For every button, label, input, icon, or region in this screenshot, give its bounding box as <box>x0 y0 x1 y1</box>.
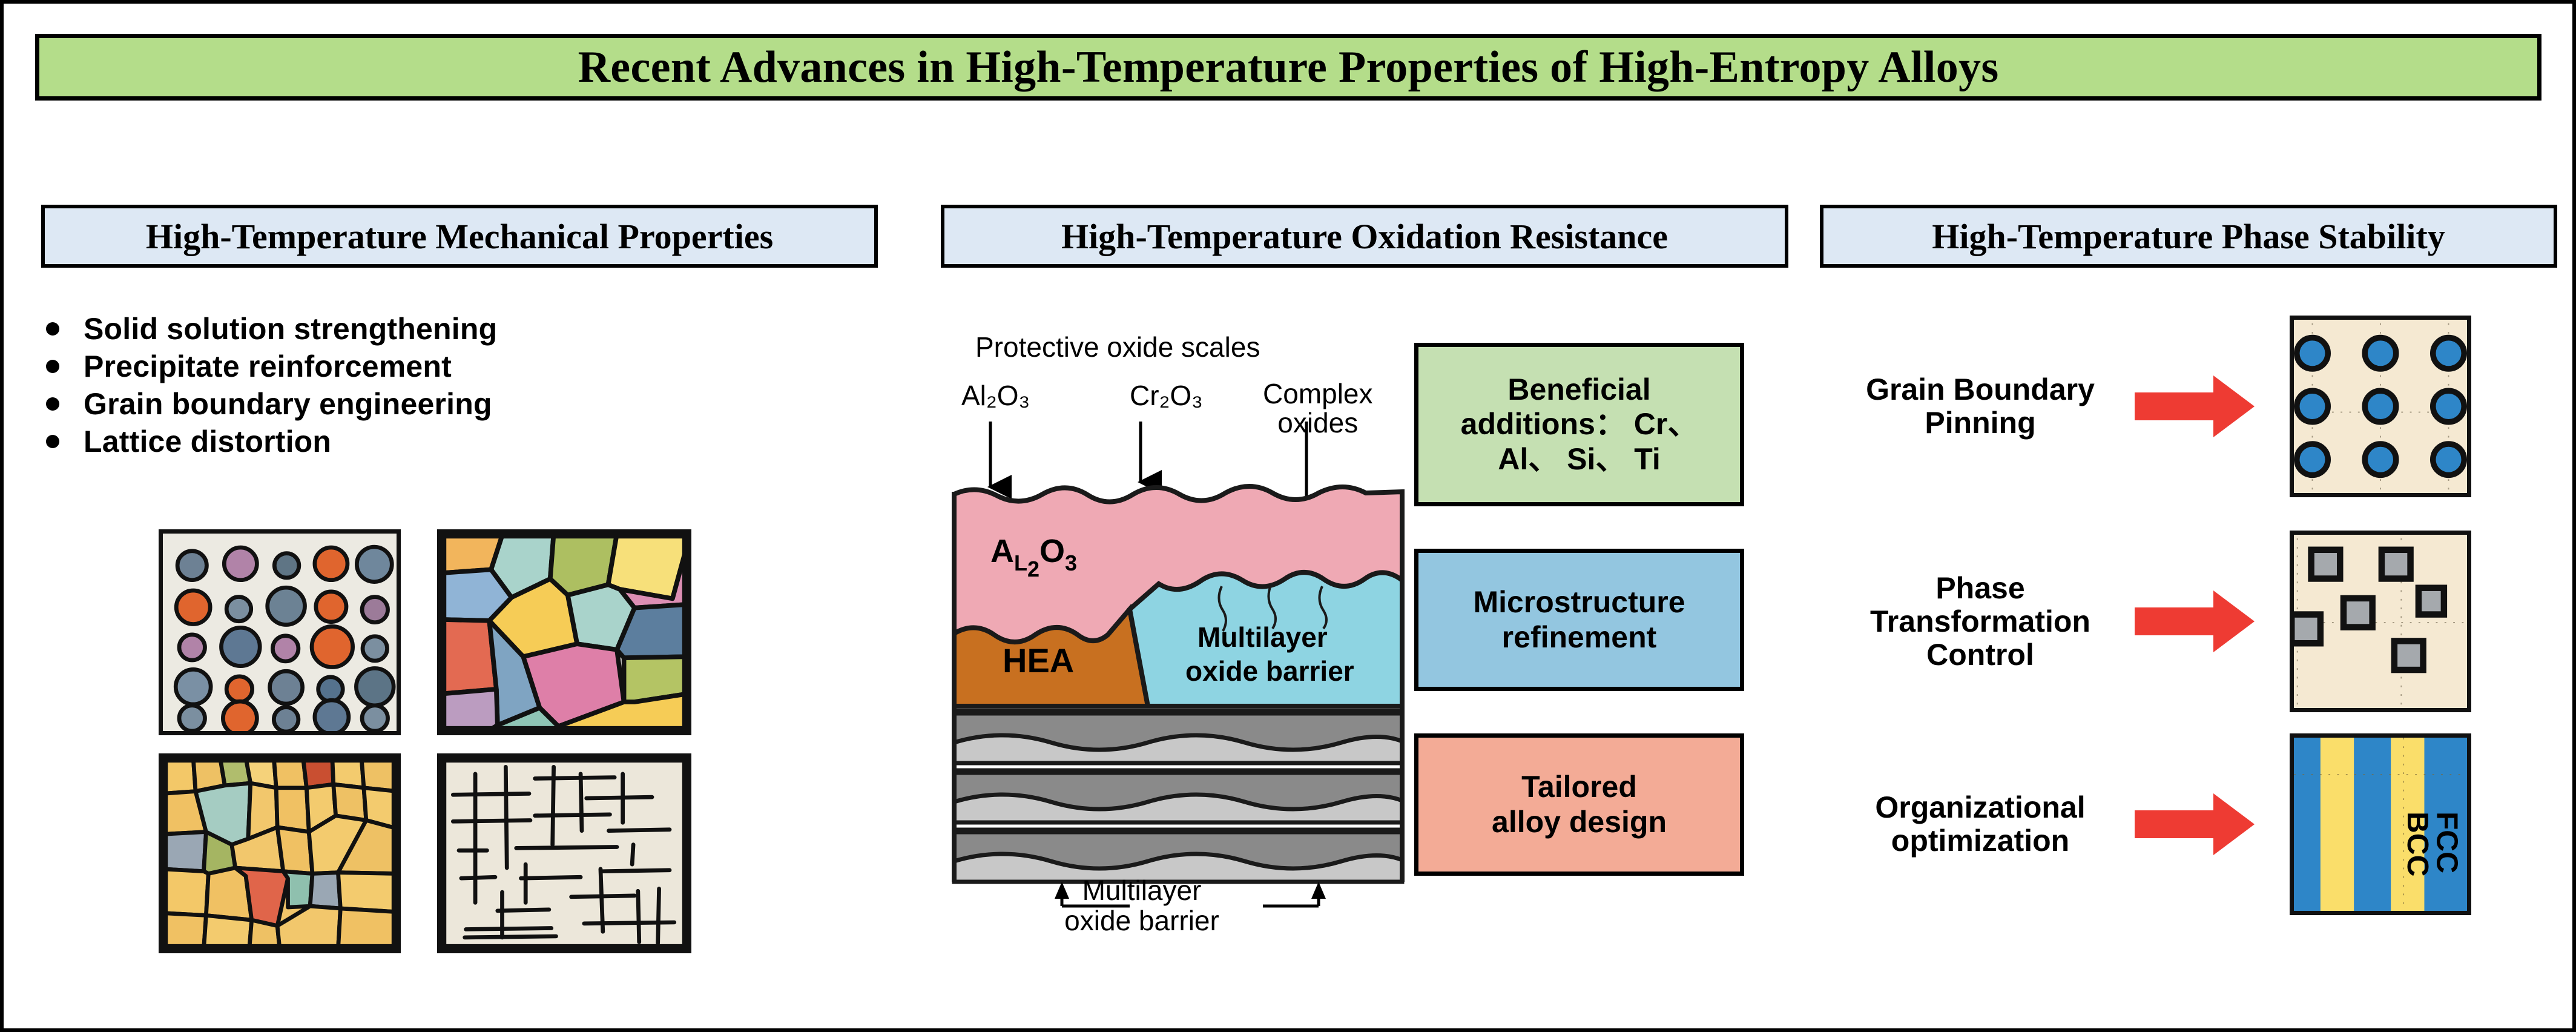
bullet-label: Grain boundary engineering <box>84 389 492 419</box>
oxidation-cross-section: AL2O3 HEA Multilayer oxide barrier <box>948 422 1408 942</box>
strategy-box-3-label: Tailored alloy design <box>1492 770 1667 839</box>
gray-squares-scatter-diagram <box>2294 535 2467 708</box>
strategy-box-tailored-alloy-design[interactable]: Tailored alloy design <box>1414 733 1744 876</box>
bullet-dot-icon <box>46 360 59 373</box>
multilayer-callout-text: Multilayer oxide barrier <box>972 876 1311 936</box>
bullet-label: Solid solution strengthening <box>84 314 497 344</box>
hea-label: HEA <box>1003 641 1074 680</box>
list-item: Solid solution strengthening <box>46 314 857 351</box>
column-header-oxidation-label: High-Temperature Oxidation Resistance <box>1061 216 1668 257</box>
phase-row-2-line1: Phase <box>1832 572 2129 605</box>
right-arrow-icon <box>2129 373 2262 440</box>
barrier-label-line1: Multilayer <box>1197 621 1328 653</box>
bullet-dot-icon <box>46 397 59 411</box>
strategy-1-line1: Beneficial <box>1507 372 1650 406</box>
coarse-grain-diagram <box>441 534 687 731</box>
solid-solution-diagram <box>163 534 397 731</box>
oxidation-layers-diagram: AL2O3 HEA Multilayer oxide barrier <box>948 422 1408 942</box>
strategy-3-line2: alloy design <box>1492 805 1667 839</box>
strategy-3-line1: Tailored <box>1521 770 1637 804</box>
blue-circles-grid-diagram <box>2294 320 2467 493</box>
bullet-dot-icon <box>46 322 59 336</box>
mechanical-bullet-list: Solid solution strengthening Precipitate… <box>46 314 857 464</box>
list-item: Lattice distortion <box>46 426 857 464</box>
phase-row-phase-transformation-control: Phase Transformation Control <box>1832 528 2546 715</box>
gray-multilayer-bands <box>954 711 1402 882</box>
fcc-stripe-label: FCC <box>2430 812 2464 873</box>
fine-grain-diagram <box>163 758 397 949</box>
phase-row-3-line2: optimization <box>1832 824 2129 858</box>
phase-row-1-label: Grain Boundary Pinning <box>1832 373 2129 440</box>
thumbnail-blue-circles-grid <box>2290 316 2471 497</box>
column-header-phase: High-Temperature Phase Stability <box>1820 205 2557 268</box>
al2o3-label: Al₂O₃ <box>961 379 1030 412</box>
lattice-distortion-diagram <box>441 758 687 949</box>
micrograph-solid-solution <box>159 529 401 735</box>
list-item: Grain boundary engineering <box>46 389 857 426</box>
strategy-2-line2: refinement <box>1502 620 1657 654</box>
phase-row-3-line1: Organizational <box>1832 791 2129 824</box>
column-header-mechanical: High-Temperature Mechanical Properties <box>41 205 878 268</box>
strategy-box-2-label: Microstructure refinement <box>1473 585 1685 655</box>
column-header-mechanical-label: High-Temperature Mechanical Properties <box>146 216 773 257</box>
bcc-fcc-stripes-diagram: BCC FCC <box>2294 738 2467 911</box>
phase-row-organizational-optimization: Organizational optimization BCC FCC <box>1832 730 2546 918</box>
micrograph-lattice-distortion <box>437 753 691 953</box>
right-arrow-icon <box>2129 588 2262 655</box>
strategy-1-line2: additions： Cr、 <box>1461 407 1698 441</box>
strategy-1-line3: Al、 Si、 Ti <box>1498 442 1661 476</box>
phase-row-2-line3: Control <box>1832 638 2129 672</box>
phase-row-2-line2: Transformation <box>1832 605 2129 638</box>
phase-row-grain-boundary-pinning: Grain Boundary Pinning <box>1832 313 2546 500</box>
thumbnail-gray-squares-scatter <box>2290 531 2471 712</box>
strategy-box-1-label: Beneficial additions： Cr、 Al、 Si、 Ti <box>1461 372 1698 477</box>
bullet-label: Lattice distortion <box>84 426 331 457</box>
column-header-phase-label: High-Temperature Phase Stability <box>1932 216 2445 257</box>
phase-row-2-label: Phase Transformation Control <box>1832 572 2129 672</box>
phase-row-1-line2: Pinning <box>1832 406 2129 440</box>
protective-oxide-scales-label: Protective oxide scales <box>975 331 1260 363</box>
phase-row-1-line1: Grain Boundary <box>1832 373 2129 406</box>
figure-title-banner: Recent Advances in High-Temperature Prop… <box>35 34 2541 101</box>
micrograph-fine-grains <box>159 753 401 953</box>
strategy-box-microstructure-refinement[interactable]: Microstructure refinement <box>1414 549 1744 691</box>
strategy-box-beneficial-additions[interactable]: Beneficial additions： Cr、 Al、 Si、 Ti <box>1414 343 1744 506</box>
bullet-label: Precipitate reinforcement <box>84 351 452 382</box>
right-arrow-icon <box>2129 791 2262 858</box>
complex-oxides-line1: Complex <box>1263 379 1373 408</box>
thumbnail-bcc-fcc-stripes: BCC FCC <box>2290 733 2471 915</box>
figure-root: Recent Advances in High-Temperature Prop… <box>0 0 2576 1032</box>
bullet-dot-icon <box>46 435 59 448</box>
strategy-2-line1: Microstructure <box>1473 585 1685 619</box>
column-header-oxidation: High-Temperature Oxidation Resistance <box>941 205 1788 268</box>
bcc-stripe-label: BCC <box>2401 812 2435 876</box>
callout-line1: Multilayer <box>972 876 1311 906</box>
cr2o3-label: Cr₂O₃ <box>1130 379 1203 412</box>
callout-line2: oxide barrier <box>972 906 1311 936</box>
figure-title: Recent Advances in High-Temperature Prop… <box>578 42 1999 93</box>
micrograph-coarse-grains <box>437 529 691 735</box>
list-item: Precipitate reinforcement <box>46 351 857 389</box>
phase-row-3-label: Organizational optimization <box>1832 791 2129 858</box>
barrier-label-line2: oxide barrier <box>1185 655 1354 687</box>
